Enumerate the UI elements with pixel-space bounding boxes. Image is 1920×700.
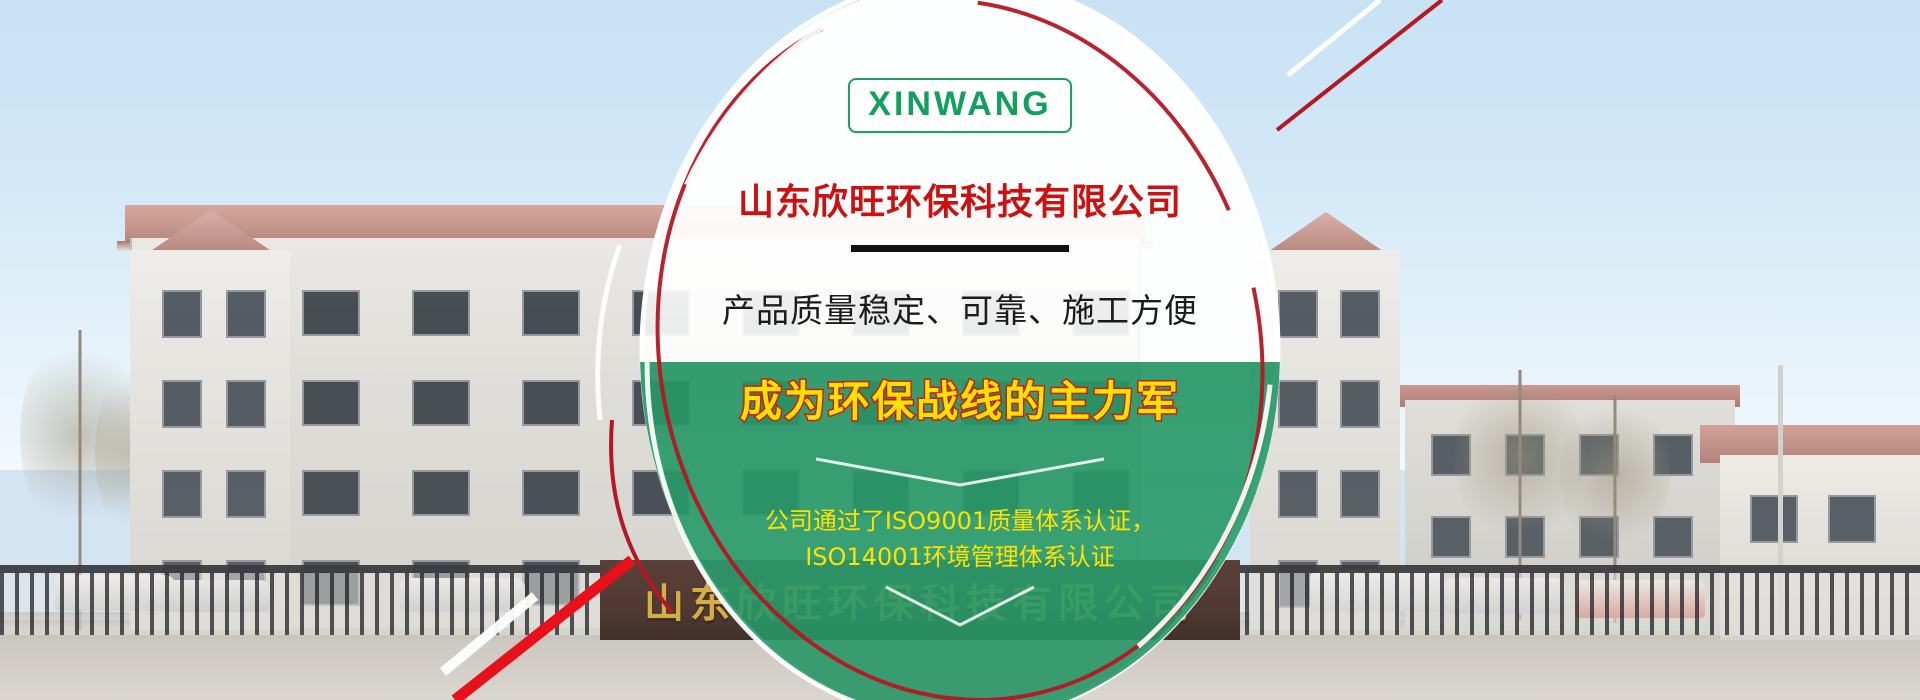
window	[522, 290, 580, 336]
window	[302, 380, 360, 426]
window-grid	[162, 290, 266, 608]
window	[1278, 290, 1318, 338]
oval-content: XINWANG 山东欣旺环保科技有限公司 产品质量稳定、可靠、施工方便 成为环保…	[640, 0, 1280, 700]
certification-line-1: 公司通过了ISO9001质量体系认证，	[765, 503, 1155, 539]
window	[1340, 290, 1380, 338]
window	[522, 470, 580, 516]
title-divider	[851, 245, 1069, 252]
window	[226, 470, 266, 518]
center-oval-card: XINWANG 山东欣旺环保科技有限公司 产品质量稳定、可靠、施工方便 成为环保…	[640, 0, 1280, 700]
window	[1828, 495, 1876, 543]
company-name: 山东欣旺环保科技有限公司	[738, 173, 1182, 225]
window-grid	[1750, 495, 1876, 543]
window-grid	[1278, 290, 1380, 608]
window	[412, 290, 470, 336]
window	[162, 380, 202, 428]
promo-banner: 山东欣旺环保科技有限公司 XINWANG 山东欣旺环保科技有限公司 产品质量稳定…	[0, 0, 1920, 700]
slogan-highlight: 成为环保战线的主力军	[740, 368, 1180, 429]
window	[1750, 495, 1798, 543]
certification-text: 公司通过了ISO9001质量体系认证， ISO14001环境管理体系认证	[765, 503, 1155, 575]
chevron-down-icon	[880, 583, 1040, 629]
slogan-primary: 产品质量稳定、可靠、施工方便	[722, 284, 1198, 332]
chevron-down-icon	[810, 455, 1110, 489]
window	[302, 290, 360, 336]
window	[226, 290, 266, 338]
window	[162, 470, 202, 518]
window	[1278, 380, 1318, 428]
xinwang-logo[interactable]: XINWANG	[848, 78, 1071, 133]
window	[226, 380, 266, 428]
window	[412, 380, 470, 426]
window	[1340, 470, 1380, 518]
window	[162, 290, 202, 338]
logo-text: XINWANG	[868, 85, 1051, 123]
window	[522, 380, 580, 426]
window	[302, 470, 360, 516]
window	[1340, 380, 1380, 428]
window	[1278, 470, 1318, 518]
certification-line-2: ISO14001环境管理体系认证	[765, 539, 1155, 575]
window	[412, 470, 470, 516]
